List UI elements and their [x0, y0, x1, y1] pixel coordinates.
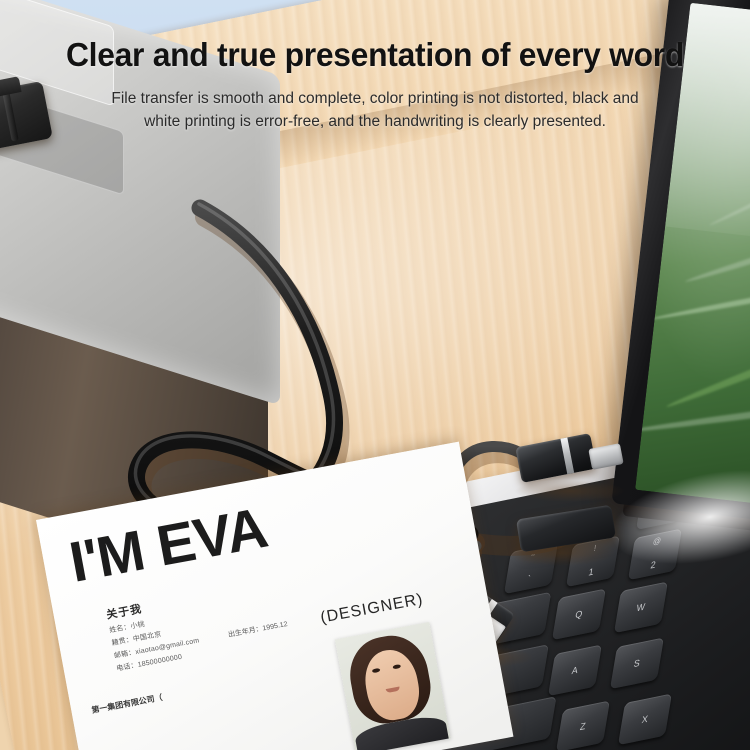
page-title: Clear and true presentation of every wor… [13, 36, 737, 74]
fern-frond-icon [651, 265, 750, 323]
product-marketing-image: esc ~ ` ! 1 @ 2 tab Q W caps lock A S sh… [0, 0, 750, 750]
laptop: esc ~ ` ! 1 @ 2 tab Q W caps lock A S sh… [455, 120, 750, 750]
key-2-main: 2 [650, 560, 657, 571]
key-2-sub: @ [652, 537, 662, 547]
key-backtick-sub: ~ [530, 551, 536, 560]
resume-title: I'M EVA [64, 495, 271, 596]
key-1-sub: ! [593, 544, 597, 553]
key-backtick-main: ` [527, 574, 532, 584]
resume-role: (DESIGNER) [319, 591, 425, 628]
key-1-main: 1 [588, 567, 595, 578]
avatar [335, 622, 451, 750]
subtitle-line-2: white printing is error-free, and the ha… [0, 113, 750, 131]
resume-footer: 第一集团有限公司（ [91, 692, 164, 716]
subtitle-line-1: File transfer is smooth and complete, co… [0, 90, 750, 108]
resume-field-birthdate: 出生年月：1995.12 [227, 619, 288, 640]
